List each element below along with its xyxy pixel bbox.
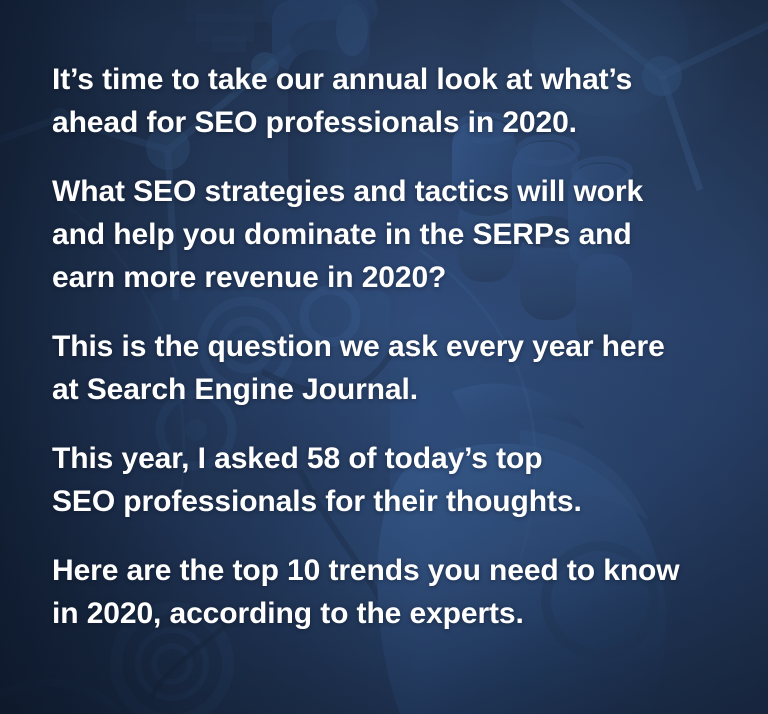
paragraph-publication: This is the question we ask every year h… — [52, 325, 677, 411]
presentation-slide: It’s time to take our annual look at wha… — [0, 0, 768, 714]
paragraph-survey: This year, I asked 58 of today’s top SEO… — [52, 437, 597, 523]
paragraph-intro: It’s time to take our annual look at wha… — [52, 58, 712, 144]
slide-body-copy: It’s time to take our annual look at wha… — [52, 58, 720, 635]
paragraph-question: What SEO strategies and tactics will wor… — [52, 170, 692, 299]
paragraph-conclusion: Here are the top 10 trends you need to k… — [52, 549, 697, 635]
